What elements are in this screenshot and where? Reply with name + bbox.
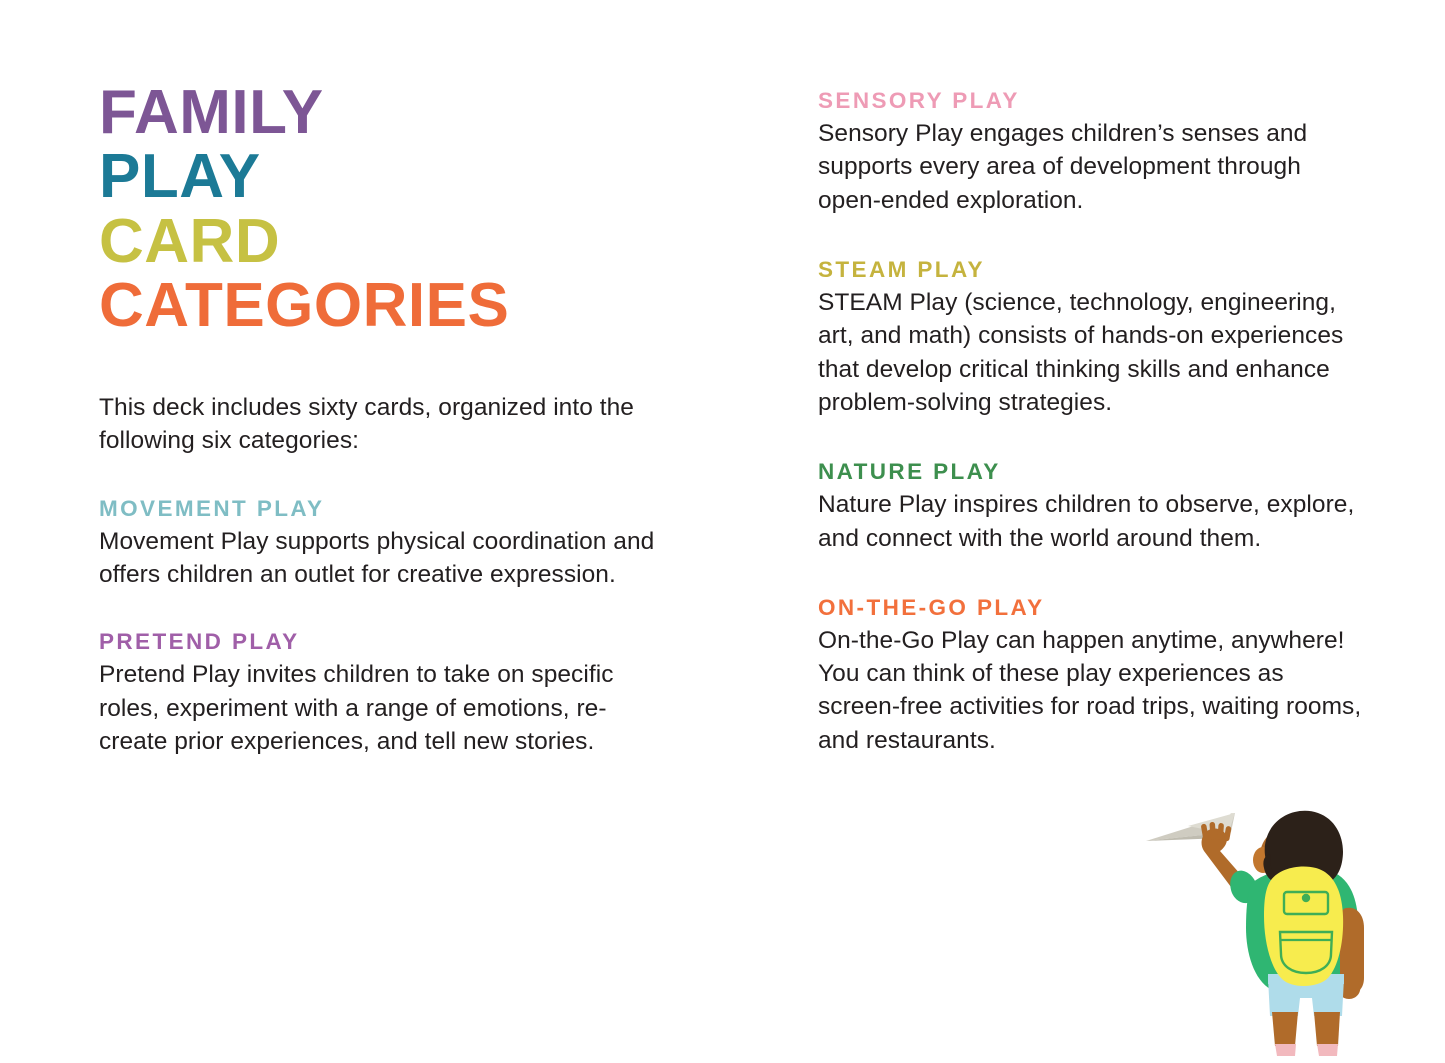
- section-body-pretend-play: Pretend Play invites children to take on…: [99, 658, 659, 758]
- backpack-bottom-pocket: [1280, 932, 1332, 973]
- section-body-movement-play: Movement Play supports physical coordina…: [99, 525, 659, 592]
- section-body-on-the-go-play: On-the-Go Play can happen anytime, anywh…: [818, 624, 1363, 757]
- right-column: SENSORY PLAY Sensory Play engages childr…: [818, 88, 1363, 757]
- hand-fingers: [1201, 822, 1232, 842]
- backpack: [1264, 867, 1343, 987]
- page-title: FAMILY PLAY CARD CATEGORIES: [99, 84, 659, 335]
- title-line-card: CARD: [99, 213, 659, 271]
- section-heading-nature-play: NATURE PLAY: [818, 459, 1363, 485]
- backpack-button: [1302, 894, 1310, 902]
- backpack-top-pocket: [1284, 892, 1328, 914]
- section-sensory-play: SENSORY PLAY Sensory Play engages childr…: [818, 88, 1363, 217]
- left-sock: [1275, 1044, 1296, 1056]
- right-hand: [1337, 975, 1360, 999]
- page-canvas: FAMILY PLAY CARD CATEGORIES This deck in…: [0, 0, 1445, 1063]
- raised-arm: [1202, 828, 1251, 896]
- shirt-torso: [1246, 868, 1358, 996]
- intro-paragraph: This deck includes sixty cards, organize…: [99, 391, 659, 458]
- shorts-waist: [1268, 974, 1344, 984]
- child-throwing-paper-airplane-illustration: [1132, 788, 1432, 1063]
- left-sleeve: [1230, 871, 1257, 903]
- section-heading-movement-play: MOVEMENT PLAY: [99, 496, 659, 522]
- shorts: [1268, 978, 1344, 1016]
- paper-airplane-icon: [1146, 813, 1235, 841]
- ear: [1253, 847, 1273, 873]
- section-nature-play: NATURE PLAY Nature Play inspires childre…: [818, 459, 1363, 555]
- section-steam-play: STEAM PLAY STEAM Play (science, technolo…: [818, 257, 1363, 419]
- section-body-steam-play: STEAM Play (science, technology, enginee…: [818, 286, 1363, 419]
- section-heading-steam-play: STEAM PLAY: [818, 257, 1363, 283]
- left-column: FAMILY PLAY CARD CATEGORIES This deck in…: [99, 84, 659, 758]
- section-on-the-go-play: ON-THE-GO PLAY On-the-Go Play can happen…: [818, 595, 1363, 757]
- section-heading-pretend-play: PRETEND PLAY: [99, 629, 659, 655]
- section-movement-play: MOVEMENT PLAY Movement Play supports phy…: [99, 496, 659, 592]
- right-leg: [1314, 1012, 1340, 1046]
- left-leg: [1272, 1012, 1298, 1046]
- title-line-categories: CATEGORIES: [99, 277, 659, 335]
- section-pretend-play: PRETEND PLAY Pretend Play invites childr…: [99, 629, 659, 758]
- section-body-nature-play: Nature Play inspires children to observe…: [818, 488, 1363, 555]
- hair: [1265, 811, 1343, 887]
- hair-side: [1263, 854, 1284, 884]
- right-arm: [1340, 908, 1364, 993]
- section-body-sensory-play: Sensory Play engages children’s senses a…: [818, 117, 1363, 217]
- title-line-family: FAMILY: [99, 84, 659, 142]
- section-heading-sensory-play: SENSORY PLAY: [818, 88, 1363, 114]
- right-sock: [1317, 1044, 1338, 1056]
- illustration-svg: [1132, 788, 1432, 1063]
- title-line-play: PLAY: [99, 148, 659, 206]
- head-skin: [1260, 830, 1304, 882]
- section-heading-on-the-go-play: ON-THE-GO PLAY: [818, 595, 1363, 621]
